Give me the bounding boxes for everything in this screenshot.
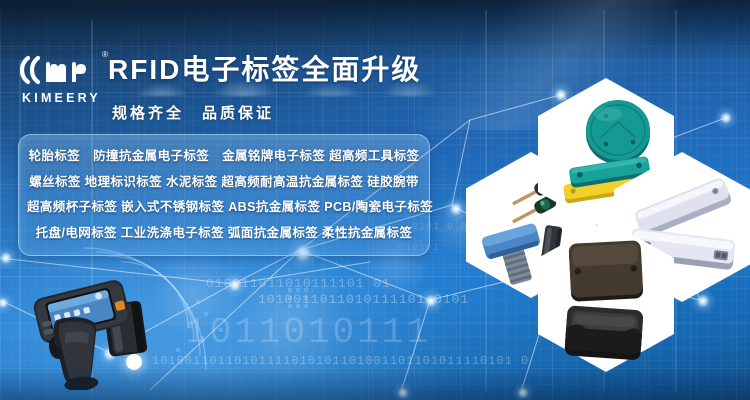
brand-logo: ® KIMEERY bbox=[14, 52, 106, 105]
node-glow bbox=[418, 288, 444, 314]
handheld-rfid-reader-icon bbox=[26, 272, 166, 390]
hexagon-black-anti-metal-tags bbox=[538, 220, 674, 372]
binary-text: 010011011010111101 01 bbox=[206, 276, 391, 291]
binary-text: 1011010111 bbox=[185, 312, 431, 353]
tag-list-panel: 轮胎标签 防撞抗金属电子标签 金属铭牌电子标签 超高频工具标签 螺丝标签 地理标… bbox=[18, 134, 430, 256]
tag-list-row: 螺丝标签 地理标识标签 水泥标签 超高频耐高温抗金属标签 硅胶腕带 bbox=[27, 169, 421, 195]
page-subtitle: 规格齐全 品质保证 bbox=[112, 102, 274, 123]
tag-list-row: 轮胎标签 防撞抗金属电子标签 金属铭牌电子标签 超高频工具标签 bbox=[27, 144, 421, 170]
rfid-banner: 010011011010111101 01 101001101101011110… bbox=[0, 0, 750, 400]
node-glow bbox=[0, 292, 14, 314]
brand-wordmark: KIMEERY bbox=[14, 91, 106, 105]
node-glow bbox=[392, 382, 414, 400]
hexagon-products bbox=[538, 220, 674, 372]
page-title: RFID电子标签全面升级 bbox=[108, 52, 448, 88]
tag-list-row: 超高频杯子标签 嵌入式不锈钢标签 ABS抗金属标签 PCB/陶瓷电子标签 bbox=[27, 195, 421, 221]
kmr-logomark: ® bbox=[14, 52, 106, 88]
node-glow bbox=[0, 246, 18, 270]
product-hexagon-cluster bbox=[462, 78, 750, 288]
headline-block: RFID电子标签全面升级 bbox=[108, 52, 448, 88]
node-glow bbox=[222, 272, 248, 298]
handheld-rfid-reader bbox=[26, 272, 166, 390]
tag-list-row: 托盘/电网标签 工业洗涤电子标签 弧面抗金属标签 柔性抗金属标签 bbox=[27, 220, 421, 246]
kmr-logo-icon bbox=[14, 52, 106, 88]
node-glow bbox=[512, 382, 534, 400]
binary-text: 1010011011010111101 0101 bbox=[258, 292, 469, 307]
black-anti-metal-tag-products-icon bbox=[538, 220, 674, 372]
binary-text: 1010011011010111101010110100110110101111… bbox=[152, 354, 529, 368]
bokeh-circle bbox=[232, 262, 352, 382]
